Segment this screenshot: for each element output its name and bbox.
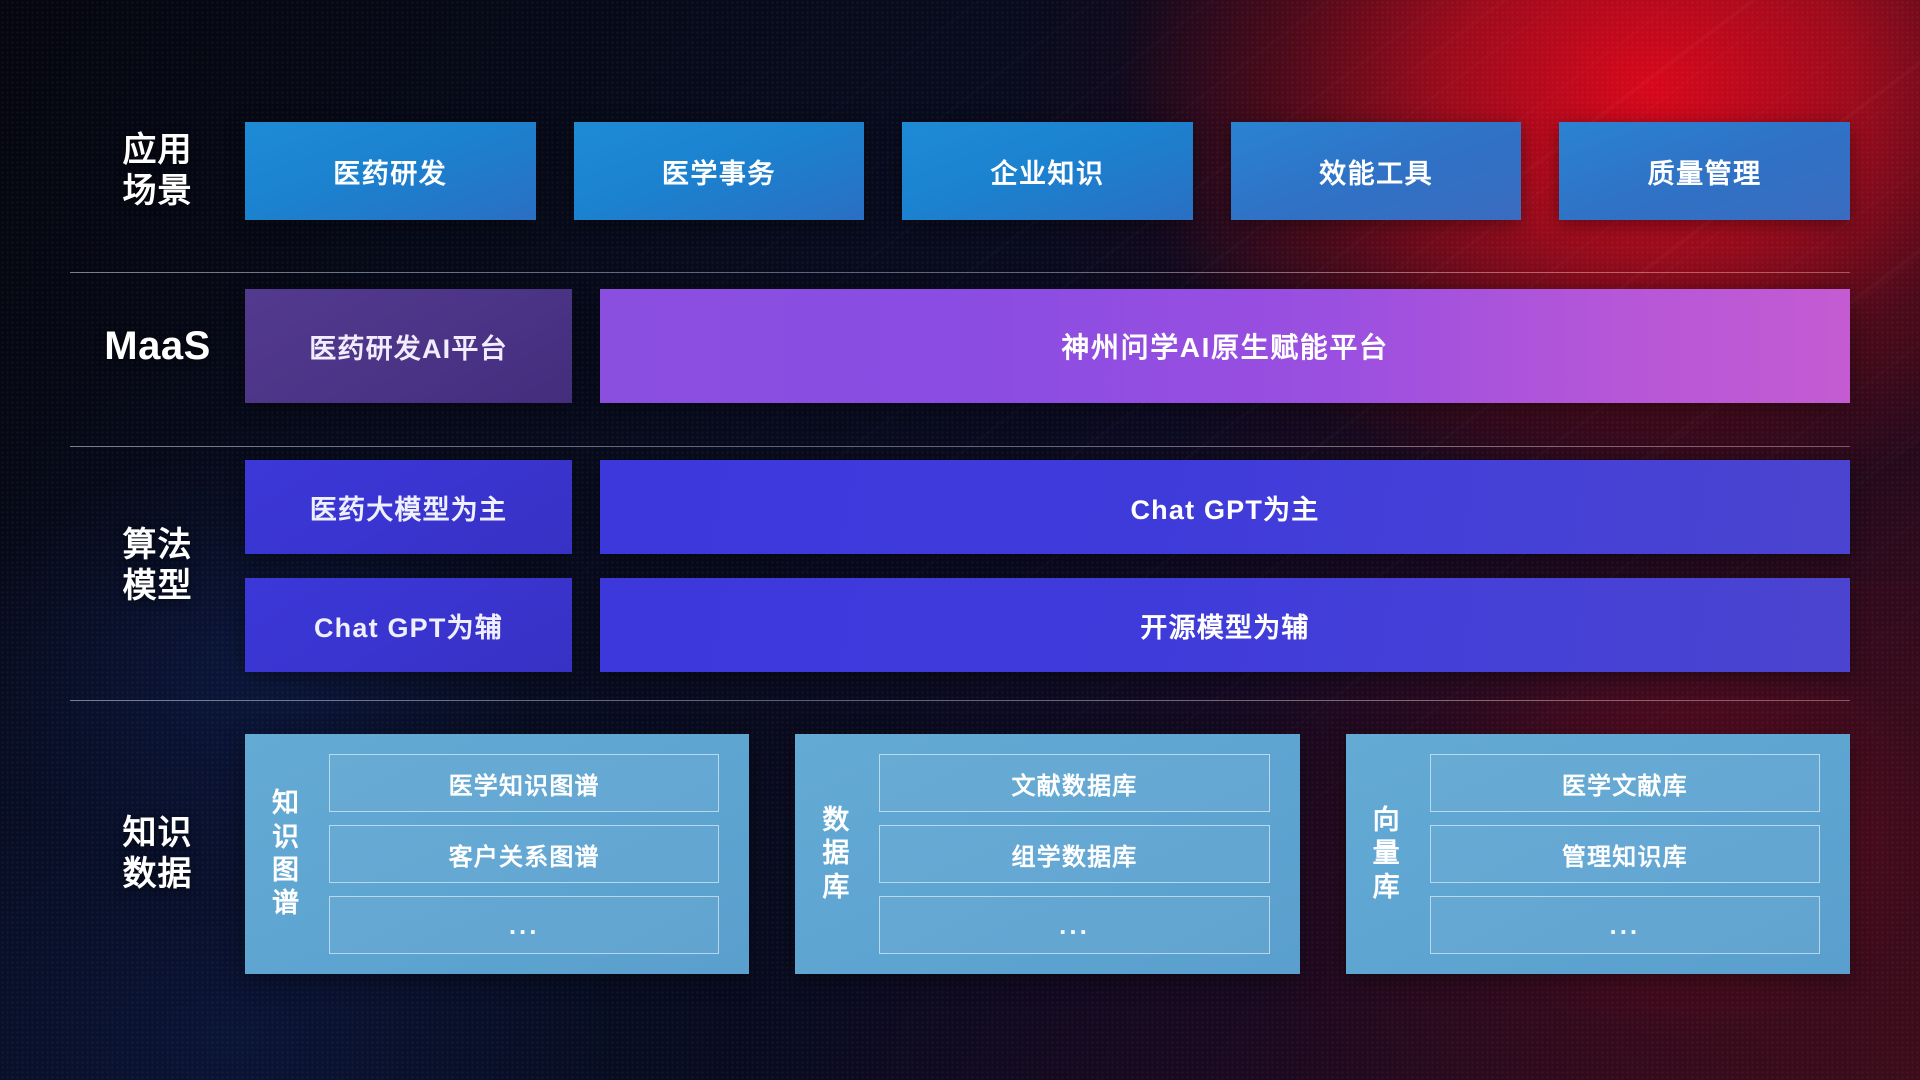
application-card-drug-rd[interactable]: 医药研发 (245, 122, 536, 220)
knowledge-group-knowledge-graph[interactable]: 知识图谱 医学知识图谱 客户关系图谱 ... (245, 734, 749, 974)
knowledge-group-label-vector-store: 向量库 (1356, 750, 1418, 958)
layer-label-algorithm: 算法 模型 (70, 525, 245, 608)
application-card-enterprise-knowledge[interactable]: 企业知识 (902, 122, 1193, 220)
algorithm-cards-container: 医药大模型为主 Chat GPT为主 Chat GPT为辅 开源模型为辅 (245, 460, 1850, 672)
application-card-quality-management[interactable]: 质量管理 (1559, 122, 1850, 220)
maas-card-drug-rd-ai-platform[interactable]: 医药研发AI平台 (245, 289, 572, 403)
knowledge-item-medical-literature-store[interactable]: 医学文献库 (1430, 754, 1820, 812)
knowledge-groups-container: 知识图谱 医学知识图谱 客户关系图谱 ... 数据库 文献数据库 组学数据库 .… (245, 734, 1850, 974)
application-card-efficiency-tools[interactable]: 效能工具 (1231, 122, 1522, 220)
architecture-diagram: 应用 场景 医药研发 医学事务 企业知识 效能工具 质量管理 MaaS 医药研发… (0, 0, 1920, 1080)
divider-algorithm-knowledge (70, 700, 1850, 701)
knowledge-item-literature-database[interactable]: 文献数据库 (879, 754, 1269, 812)
application-cards-container: 医药研发 医学事务 企业知识 效能工具 质量管理 (245, 122, 1850, 220)
knowledge-group-label-database: 数据库 (805, 750, 867, 958)
layer-maas: MaaS 医药研发AI平台 神州问学AI原生赋能平台 (70, 286, 1850, 406)
divider-application-maas (70, 272, 1850, 273)
knowledge-group-label-knowledge-graph: 知识图谱 (255, 750, 317, 958)
algorithm-card-pharma-llm-primary[interactable]: 医药大模型为主 (245, 460, 572, 554)
knowledge-item-medical-knowledge-graph[interactable]: 医学知识图谱 (329, 754, 719, 812)
maas-cards-container: 医药研发AI平台 神州问学AI原生赋能平台 (245, 289, 1850, 403)
knowledge-item-more-database[interactable]: ... (879, 896, 1269, 954)
knowledge-item-management-knowledge-store[interactable]: 管理知识库 (1430, 825, 1820, 883)
layer-label-maas: MaaS (70, 322, 245, 371)
layer-knowledge-data: 知识 数据 知识图谱 医学知识图谱 客户关系图谱 ... 数据库 (70, 730, 1850, 978)
algorithm-row-primary: 医药大模型为主 Chat GPT为主 (245, 460, 1850, 554)
layer-label-application: 应用 场景 (70, 130, 245, 213)
knowledge-item-more-knowledge-graph[interactable]: ... (329, 896, 719, 954)
knowledge-item-omics-database[interactable]: 组学数据库 (879, 825, 1269, 883)
algorithm-card-chatgpt-primary[interactable]: Chat GPT为主 (600, 460, 1850, 554)
diagram-content: 应用 场景 医药研发 医学事务 企业知识 效能工具 质量管理 MaaS 医药研发… (0, 0, 1920, 1080)
knowledge-group-database[interactable]: 数据库 文献数据库 组学数据库 ... (795, 734, 1299, 974)
divider-maas-algorithm (70, 446, 1850, 447)
knowledge-items-vector-store: 医学文献库 管理知识库 ... (1430, 750, 1820, 958)
knowledge-group-vector-store[interactable]: 向量库 医学文献库 管理知识库 ... (1346, 734, 1850, 974)
knowledge-item-customer-relation-graph[interactable]: 客户关系图谱 (329, 825, 719, 883)
maas-card-shenzhou-wenxue-platform[interactable]: 神州问学AI原生赋能平台 (600, 289, 1850, 403)
knowledge-items-knowledge-graph: 医学知识图谱 客户关系图谱 ... (329, 750, 719, 958)
application-card-medical-affairs[interactable]: 医学事务 (574, 122, 865, 220)
layer-application-scenarios: 应用 场景 医药研发 医学事务 企业知识 效能工具 质量管理 (70, 112, 1850, 230)
layer-algorithm-models: 算法 模型 医药大模型为主 Chat GPT为主 Chat GPT为辅 开源模型… (70, 460, 1850, 672)
algorithm-card-opensource-secondary[interactable]: 开源模型为辅 (600, 578, 1850, 672)
knowledge-item-more-vector-store[interactable]: ... (1430, 896, 1820, 954)
algorithm-card-chatgpt-secondary[interactable]: Chat GPT为辅 (245, 578, 572, 672)
knowledge-items-database: 文献数据库 组学数据库 ... (879, 750, 1269, 958)
layer-label-knowledge: 知识 数据 (70, 813, 245, 896)
algorithm-row-secondary: Chat GPT为辅 开源模型为辅 (245, 578, 1850, 672)
